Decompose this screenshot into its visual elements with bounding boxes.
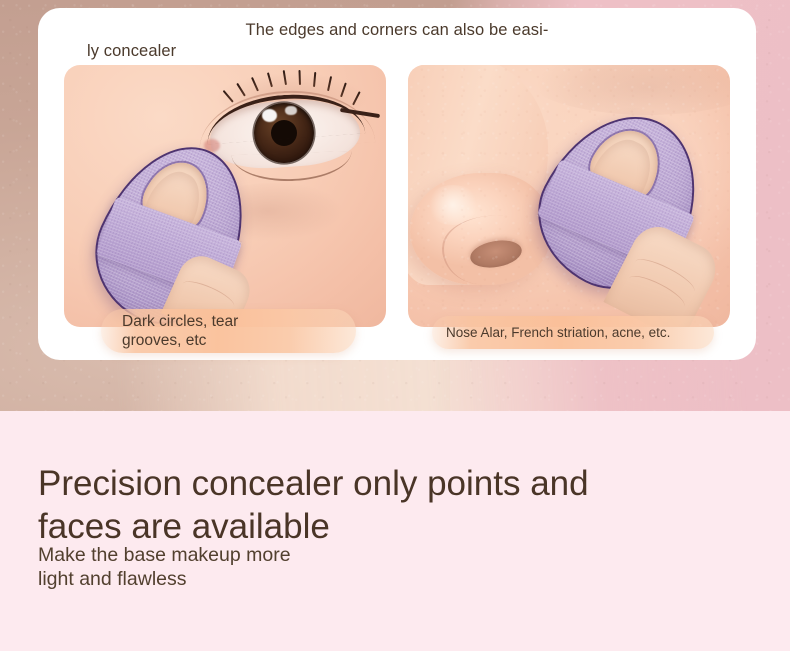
promo-subhead-line-1: Make the base makeup more — [38, 543, 458, 567]
promo-headline-line-2: faces are available — [38, 505, 658, 548]
card-title-line-1: The edges and corners can also be easi- — [78, 20, 716, 41]
caption-pill-nose-alar: Nose Alar, French striation, acne, etc. — [432, 316, 714, 349]
caption-left-line-2: grooves, etc — [122, 331, 238, 350]
caption-text-left: Dark circles, tear grooves, etc — [122, 312, 238, 350]
eye-area-photo — [64, 65, 386, 327]
promo-subhead-line-2: light and flawless — [38, 567, 458, 591]
photo-row — [64, 65, 730, 327]
card-title-line-2: ly concealer — [78, 41, 716, 62]
promo-headline: Precision concealer only points and face… — [38, 462, 658, 548]
promo-subhead: Make the base makeup more light and flaw… — [38, 543, 458, 591]
product-promo-image: The edges and corners can also be easi- … — [0, 0, 790, 651]
promo-headline-line-1: Precision concealer only points and — [38, 462, 658, 505]
card-title: The edges and corners can also be easi- … — [78, 20, 716, 62]
feature-card: The edges and corners can also be easi- … — [38, 8, 756, 360]
caption-pill-dark-circles: Dark circles, tear grooves, etc — [101, 309, 356, 353]
caption-left-line-1: Dark circles, tear — [122, 312, 238, 331]
nose-area-photo — [408, 65, 730, 327]
caption-right-line-1: Nose Alar, French striation, acne, etc. — [446, 324, 670, 341]
